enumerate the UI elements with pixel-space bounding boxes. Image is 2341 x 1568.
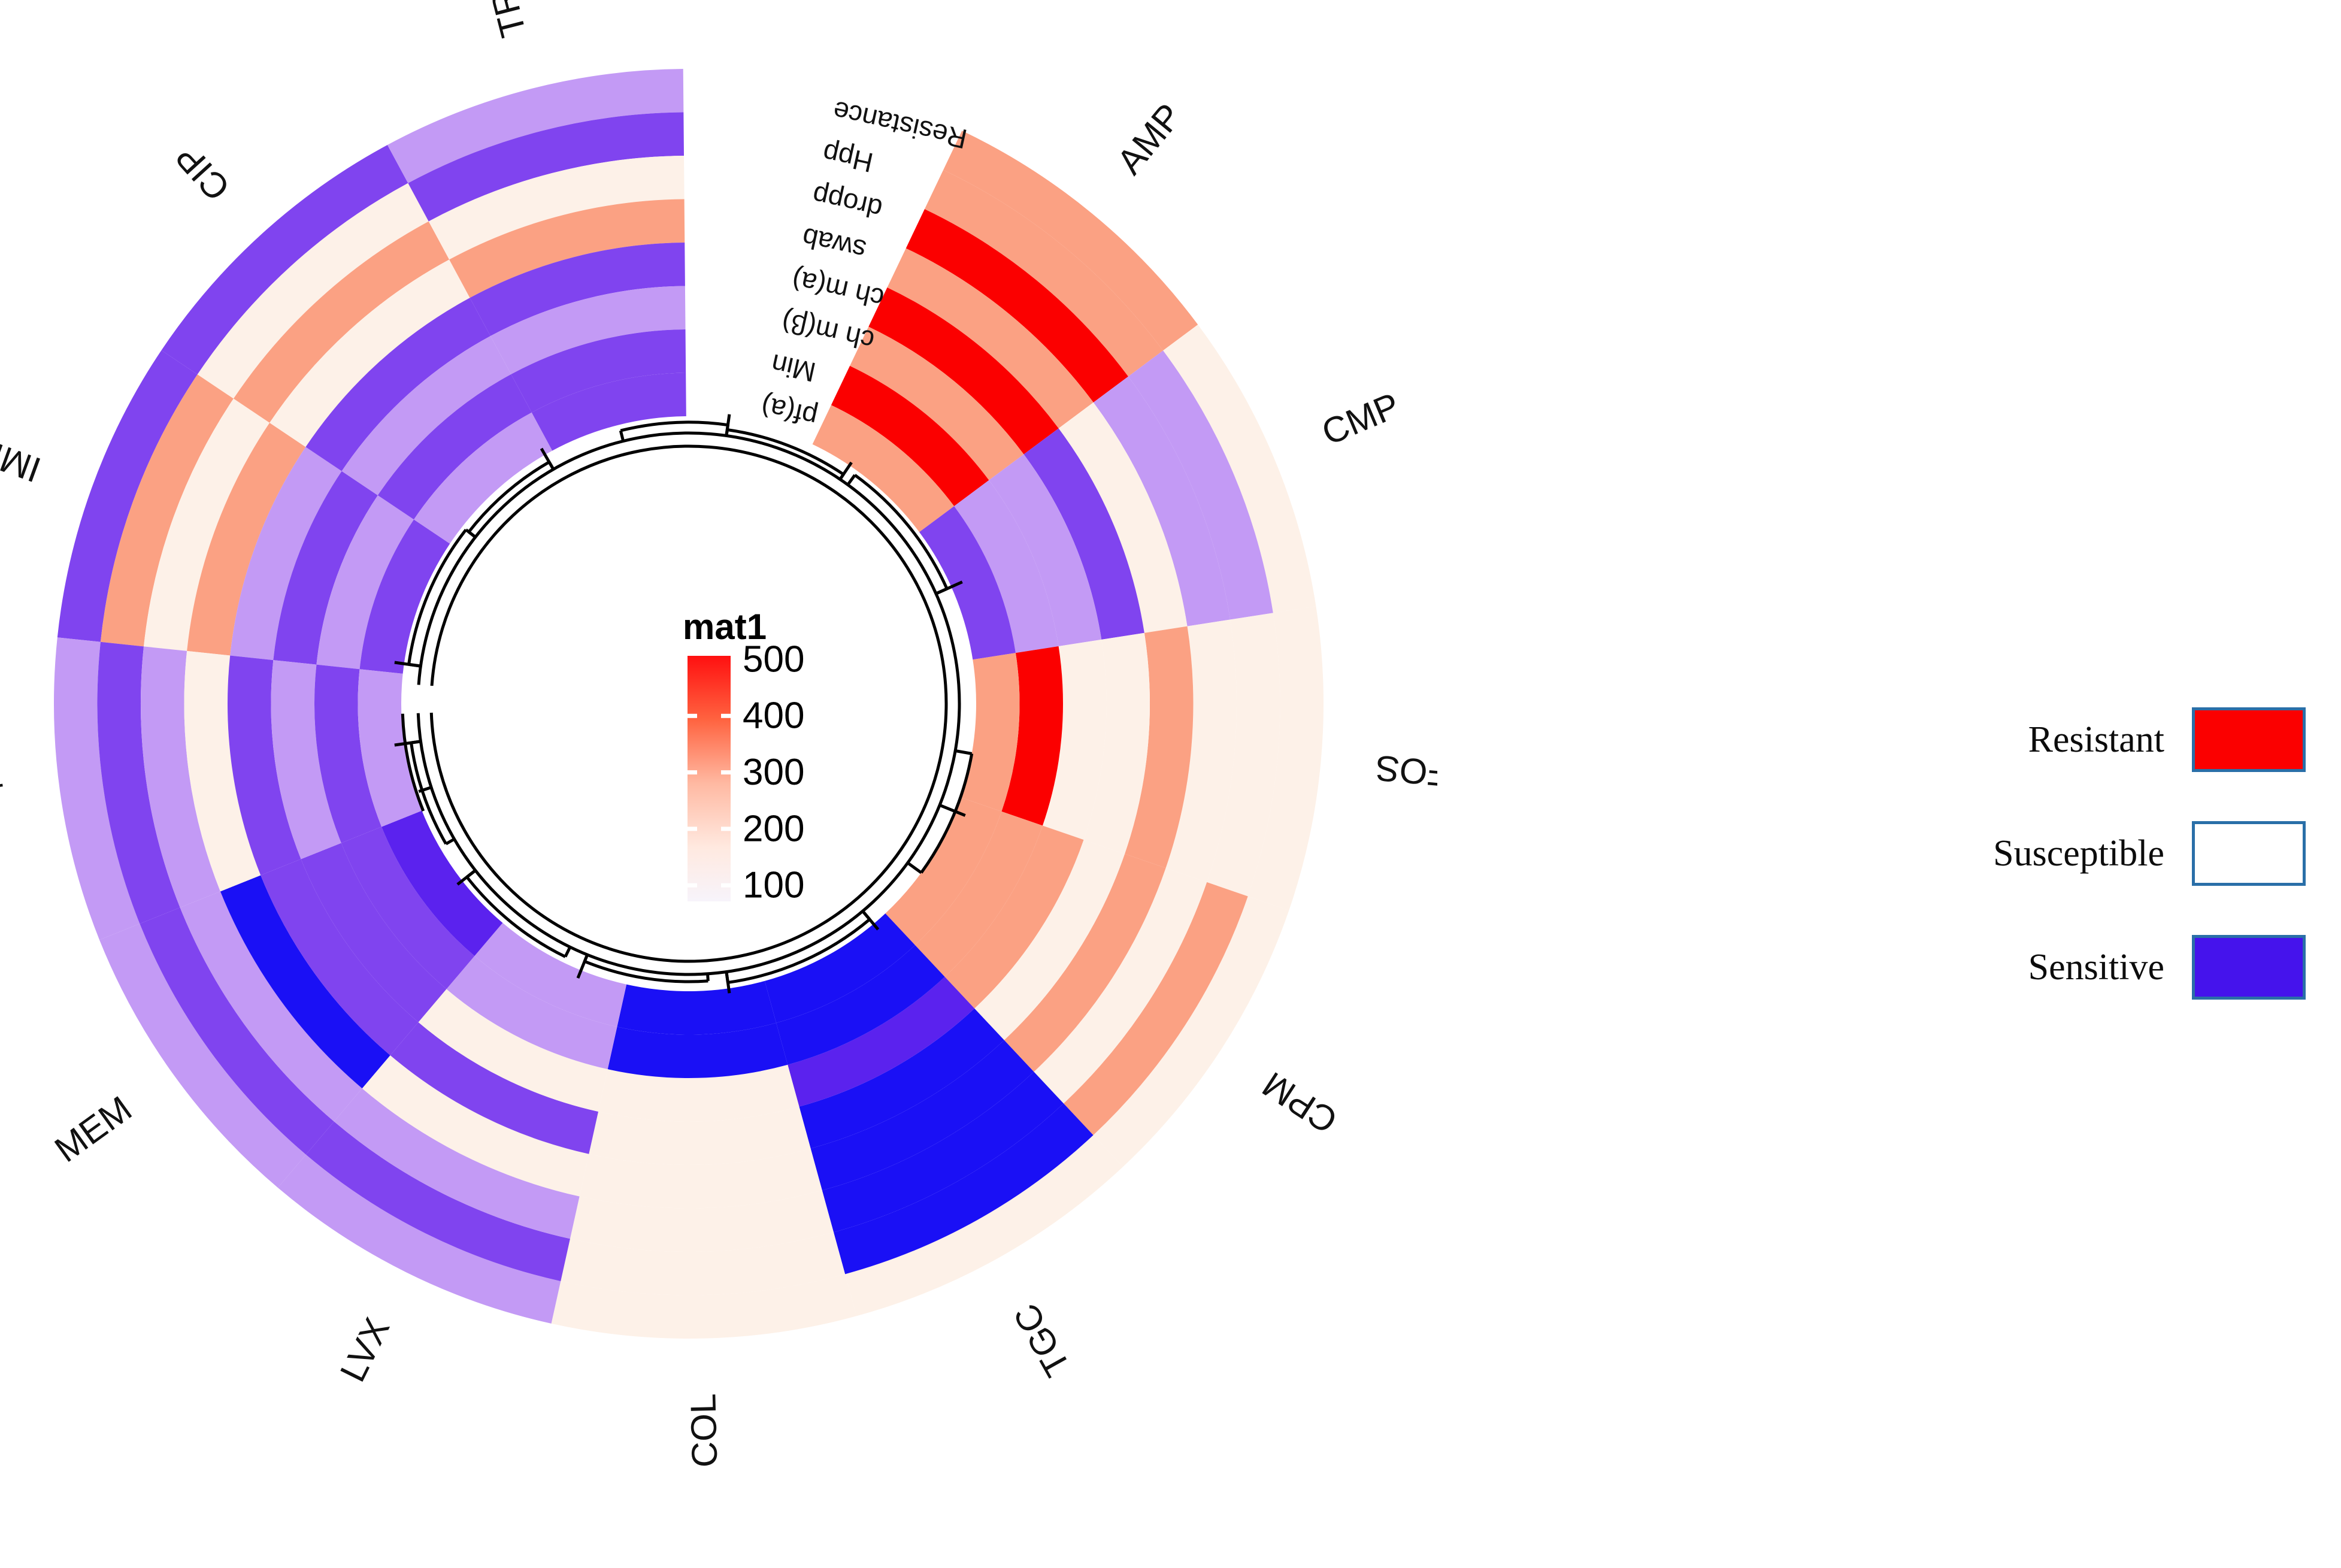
category-legend: Resistant Susceptible Sensitive (1934, 683, 2306, 1024)
dendrogram-branch (446, 839, 455, 844)
dendrogram-branch (469, 532, 476, 537)
track-label: Min (768, 348, 819, 388)
sector-label-amp: AMP (1109, 96, 1189, 181)
circular-heatmap-figure: IMICIPTRIAMPCMPFOSCPMTGCCOLLVXMEMTETResi… (0, 0, 1437, 1568)
dendrogram-branch (848, 475, 855, 485)
colorbar-gradient (688, 656, 731, 901)
legend-item-resistant: Resistant (1934, 683, 2306, 797)
track-label: ch m(β) (779, 306, 877, 357)
track-label: swab (799, 222, 868, 266)
sector-label-cpm: CPM (1255, 1064, 1344, 1142)
legend-item-susceptible: Susceptible (1934, 797, 2306, 910)
legend-label-susceptible: Susceptible (1993, 833, 2164, 875)
sector-label-tri: TRI (480, 0, 534, 41)
track-label: pf(a) (758, 391, 820, 433)
legend-swatch-resistant (2192, 707, 2306, 772)
dendrogram-branch (708, 974, 708, 981)
sector-label-tgc: TGC (1006, 1297, 1078, 1383)
colorbar-tick-label: 300 (743, 752, 804, 793)
track-label: Hpp (820, 137, 876, 178)
heatmap-cell (617, 981, 776, 1035)
dendrogram-leaf (726, 414, 729, 436)
colorbar-tick-label: 100 (743, 865, 804, 906)
sector-label-lvx: LVX (332, 1312, 397, 1388)
dendrogram-branch (955, 750, 972, 753)
track-label: dropp (810, 180, 885, 225)
dendrogram-branch (908, 863, 922, 873)
legend-swatch-susceptible (2192, 821, 2306, 886)
sector-label-tet: TET (0, 776, 8, 825)
dendrogram-branch (620, 431, 623, 441)
circos-svg: IMICIPTRIAMPCMPFOSCPMTGCCOLLVXMEMTETResi… (0, 0, 1437, 1568)
sector-label-fos: FOS (1374, 747, 1437, 794)
track-label: ch m(a) (789, 264, 886, 314)
colorbar-legend: mat1500400300200100 (683, 607, 804, 906)
legend-label-sensitive: Sensitive (2028, 946, 2164, 989)
colorbar-tick-label: 400 (743, 695, 804, 737)
legend-swatch-sensitive (2192, 935, 2306, 1000)
dendrogram-branch (565, 947, 570, 956)
legend-label-resistant: Resistant (2028, 719, 2164, 761)
sector-label-cmp: CMP (1316, 385, 1406, 453)
colorbar-tick-label: 200 (743, 808, 804, 849)
colorbar-tick-label: 500 (743, 638, 804, 680)
dendrogram-branch (620, 422, 728, 431)
dendrogram-leaf (840, 462, 852, 479)
sector-label-mem: MEM (47, 1088, 139, 1170)
sector-label-imi: IMI (0, 435, 46, 490)
sector-label-col: COL (683, 1393, 725, 1468)
legend-item-sensitive: Sensitive (1934, 910, 2306, 1024)
sector-label-cip: CIP (168, 137, 238, 208)
